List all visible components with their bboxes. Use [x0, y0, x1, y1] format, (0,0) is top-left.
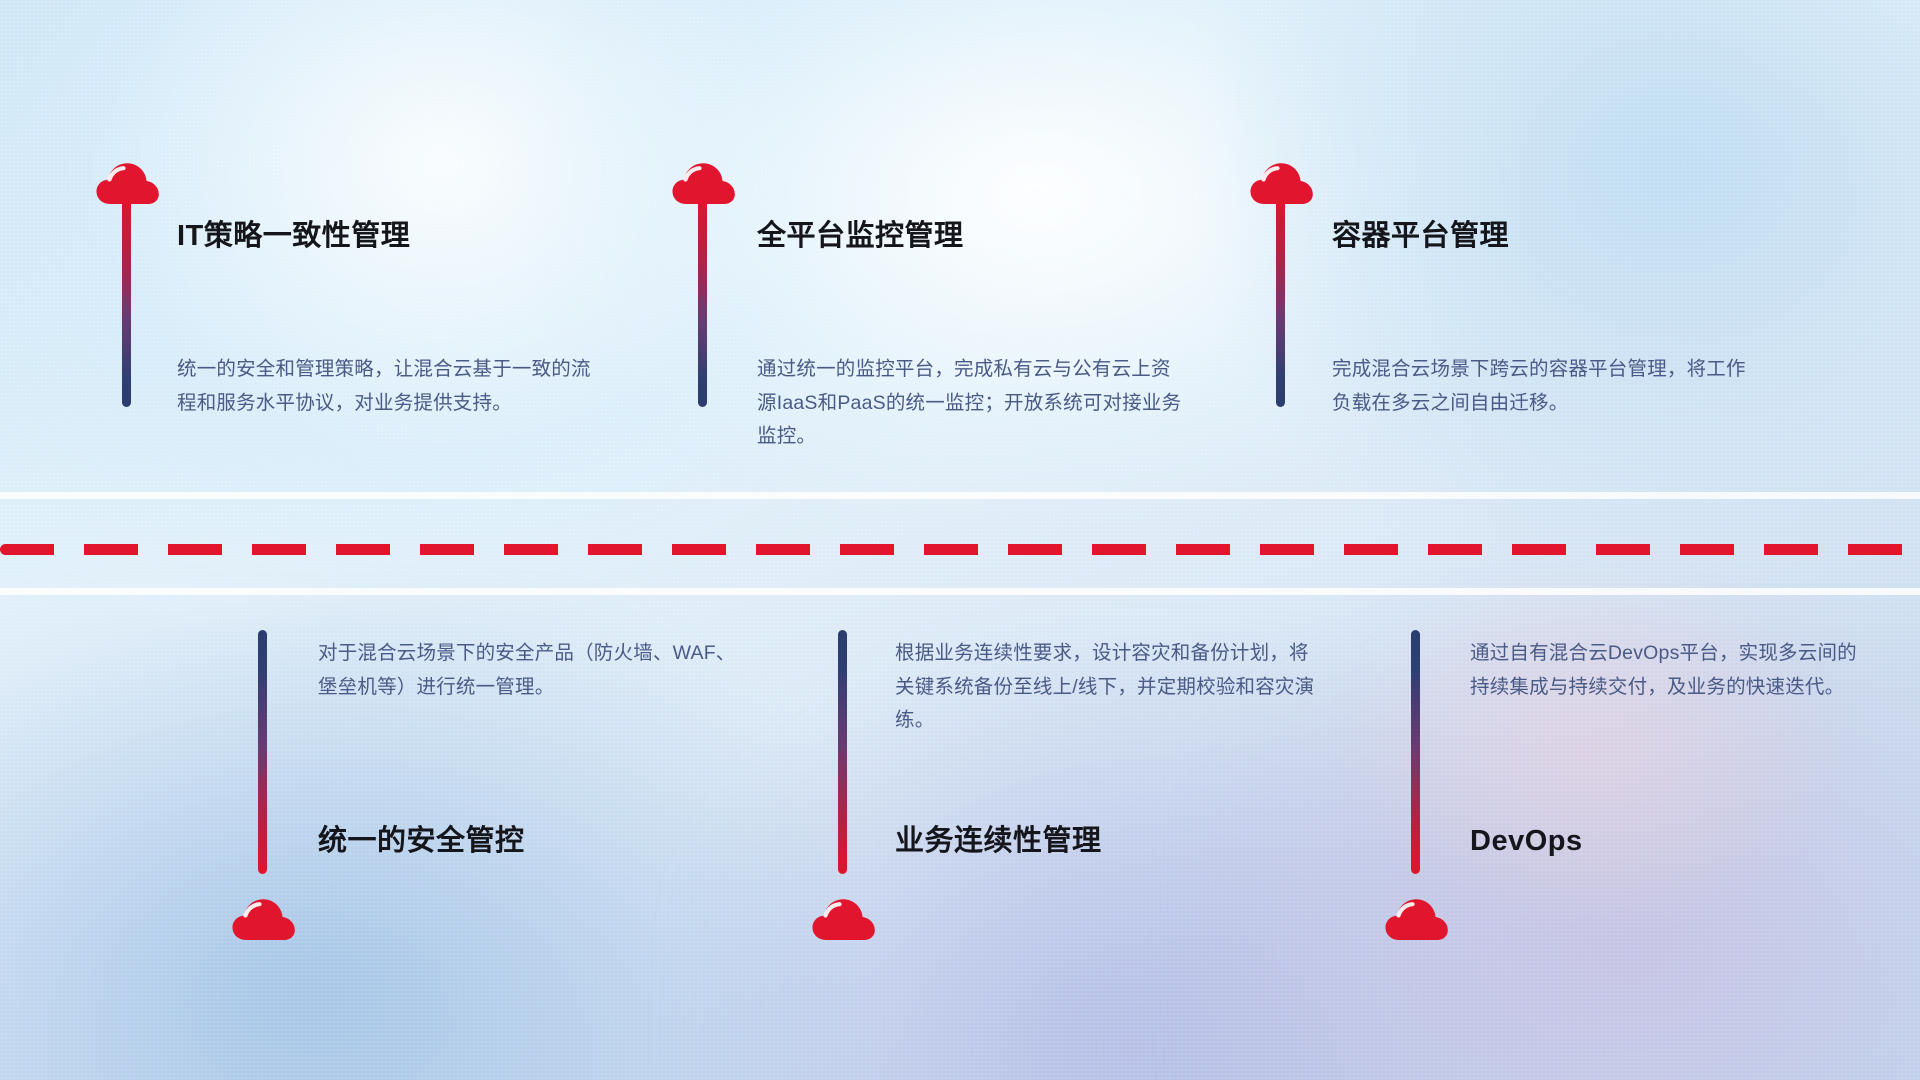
card-title: DevOps [1470, 824, 1870, 859]
cloud-icon [812, 896, 876, 942]
card-body-devops: 通过自有混合云DevOps平台，实现多云间的持续集成与持续交付，及业务的快速迭代… [1470, 637, 1870, 704]
card-devops[interactable]: DevOps [1470, 824, 1870, 859]
card-body-unified-security: 对于混合云场景下的安全产品（防火墙、WAF、堡垒机等）进行统一管理。 [318, 637, 738, 704]
pin-stem [1276, 197, 1285, 407]
card-body-business-continuity: 根据业务连续性要求，设计容灾和备份计划，将关键系统备份至线上/线下，并定期校验和… [895, 637, 1315, 738]
divider-line-lower [0, 588, 1920, 595]
card-body-text: 根据业务连续性要求，设计容灾和备份计划，将关键系统备份至线上/线下，并定期校验和… [895, 637, 1315, 738]
infographic-canvas: IT策略一致性管理 统一的安全和管理策略，让混合云基于一致的流程和服务水平协议，… [0, 0, 1920, 1080]
divider-line-upper [0, 492, 1920, 499]
pin-stem [1411, 630, 1420, 874]
card-business-continuity[interactable]: 业务连续性管理 [895, 824, 1315, 859]
card-body-text: 统一的安全和管理策略，让混合云基于一致的流程和服务水平协议，对业务提供支持。 [177, 353, 607, 420]
divider-dashed-line [0, 544, 1920, 555]
cloud-icon [1385, 896, 1449, 942]
pin-stem [838, 630, 847, 874]
card-title: IT策略一致性管理 [177, 219, 617, 254]
pin-stem [258, 630, 267, 874]
card-container-platform[interactable]: 容器平台管理 [1332, 219, 1752, 254]
card-full-platform-monitoring[interactable]: 全平台监控管理 [757, 219, 1187, 254]
pin-stem [698, 197, 707, 407]
card-body-full-platform-monitoring: 通过统一的监控平台，完成私有云与公有云上资源IaaS和PaaS的统一监控；开放系… [757, 353, 1189, 454]
pin-stem [122, 197, 131, 407]
card-title: 容器平台管理 [1332, 219, 1752, 254]
card-title: 全平台监控管理 [757, 219, 1187, 254]
card-body-container-platform: 完成混合云场景下跨云的容器平台管理，将工作负载在多云之间自由迁移。 [1332, 353, 1752, 420]
card-body-text: 对于混合云场景下的安全产品（防火墙、WAF、堡垒机等）进行统一管理。 [318, 637, 738, 704]
card-title: 业务连续性管理 [895, 824, 1315, 859]
card-title: 统一的安全管控 [318, 824, 738, 859]
card-unified-security[interactable]: 统一的安全管控 [318, 824, 738, 859]
card-body-it-policy-consistency: 统一的安全和管理策略，让混合云基于一致的流程和服务水平协议，对业务提供支持。 [177, 353, 607, 420]
card-body-text: 完成混合云场景下跨云的容器平台管理，将工作负载在多云之间自由迁移。 [1332, 353, 1752, 420]
card-body-text: 通过自有混合云DevOps平台，实现多云间的持续集成与持续交付，及业务的快速迭代… [1470, 637, 1870, 704]
card-body-text: 通过统一的监控平台，完成私有云与公有云上资源IaaS和PaaS的统一监控；开放系… [757, 353, 1189, 454]
cloud-icon [232, 896, 296, 942]
card-it-policy-consistency[interactable]: IT策略一致性管理 [177, 219, 617, 254]
